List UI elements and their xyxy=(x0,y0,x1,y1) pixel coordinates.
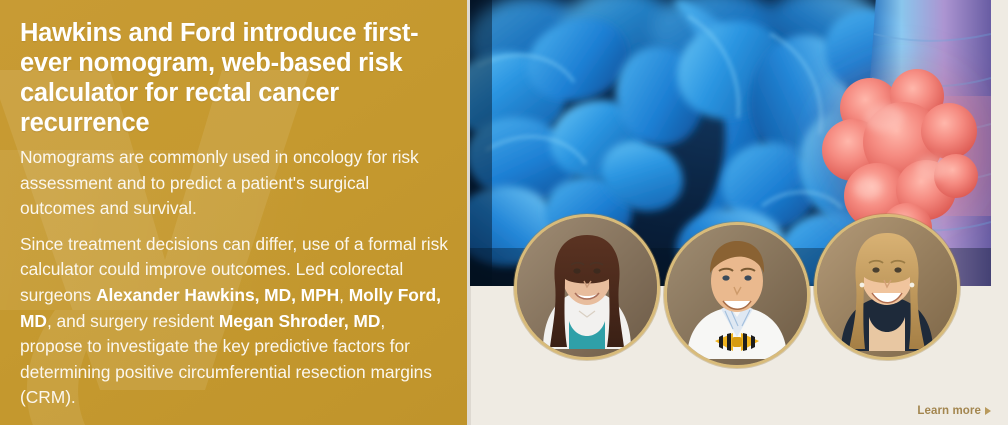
paragraph-2-mid: , and surgery resident xyxy=(47,311,219,331)
article-paragraph-1: Nomograms are commonly used in oncology … xyxy=(20,145,448,222)
page-title: Hawkins and Ford introduce first-ever no… xyxy=(20,18,445,138)
researcher-portrait-row: Ford Hawkins Shroder xyxy=(467,214,1008,394)
learn-more-label: Learn more xyxy=(917,405,981,417)
article-text-panel: Hawkins and Ford introduce first-ever no… xyxy=(0,0,467,425)
article-paragraph-2: Since treatment decisions can differ, us… xyxy=(20,232,448,411)
name-separator: , xyxy=(339,285,349,305)
learn-more-link[interactable]: Learn more xyxy=(917,405,991,417)
researcher-name-hawkins: Alexander Hawkins, MD, MPH xyxy=(96,285,339,305)
research-highlight-banner: Hawkins and Ford introduce first-ever no… xyxy=(0,0,1008,425)
avatar-hawkins xyxy=(664,222,810,368)
avatar-ford xyxy=(514,214,660,360)
avatar-shroder xyxy=(814,214,960,360)
media-panel: Ford Hawkins Shroder Learn more xyxy=(467,0,1008,425)
article-body: Nomograms are commonly used in oncology … xyxy=(20,145,448,411)
researcher-name-shroder: Megan Shroder, MD xyxy=(219,311,380,331)
play-triangle-right-icon xyxy=(985,407,991,415)
